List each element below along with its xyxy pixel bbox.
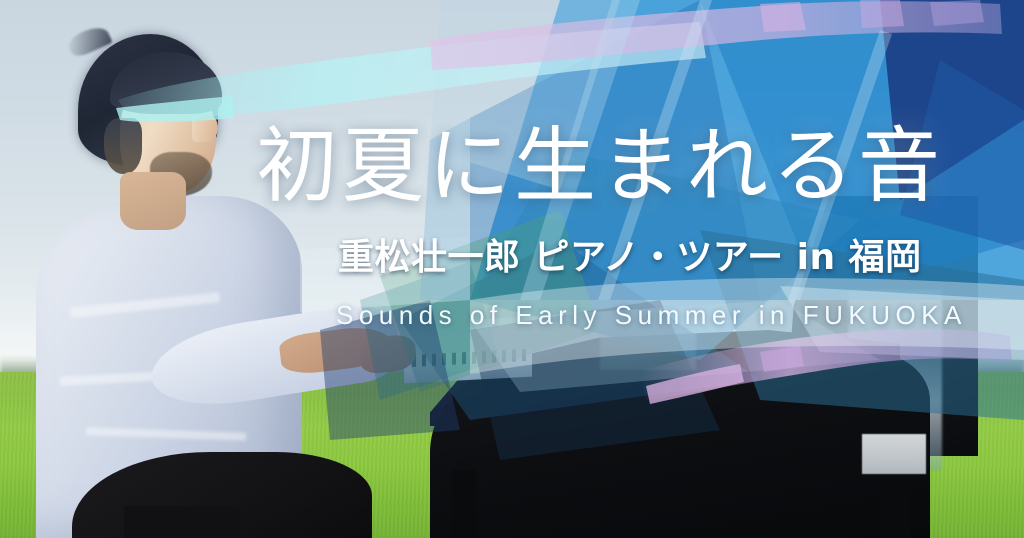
concert-banner: 初夏に生まれる音 重松壮一郎 ピアノ・ツアー in 福岡 Sounds of E… (0, 0, 1024, 538)
banner-title: 初夏に生まれる音 (256, 126, 944, 208)
banner-text-block: 初夏に生まれる音 重松壮一郎 ピアノ・ツアー in 福岡 Sounds of E… (0, 0, 1024, 538)
banner-tagline: Sounds of Early Summer in FUKUOKA (336, 302, 967, 328)
banner-subtitle: 重松壮一郎 ピアノ・ツアー in 福岡 (338, 240, 922, 276)
